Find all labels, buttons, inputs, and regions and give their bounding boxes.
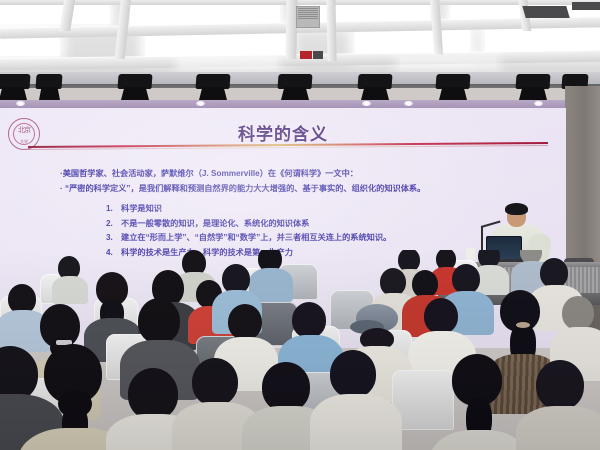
numbered-item-index: 1. <box>106 202 121 217</box>
speaker-hair <box>505 203 528 215</box>
ceiling-beam <box>326 0 336 61</box>
lecture-hall-screenshot: 北京 大学 科学的含义 ·美国哲学家、社会活动家，萨默维尔（J. Sommerv… <box>0 0 600 450</box>
ceiling <box>0 0 600 76</box>
audience <box>0 250 600 450</box>
ceiling-light-panel <box>180 58 276 68</box>
numbered-item: 3.建立在“形而上学”、“自然学”和“数学”上，并三者相互关连上的系统知识。 <box>106 231 530 246</box>
numbered-item-text: 科学是知识 <box>121 204 162 213</box>
numbered-item: 1.科学是知识 <box>106 202 530 217</box>
ceiling-light-panel <box>400 58 496 68</box>
downlight <box>404 101 413 106</box>
numbered-item-index: 3. <box>106 231 121 246</box>
ceiling-beam <box>0 0 600 5</box>
ceiling-marker <box>300 51 312 59</box>
slide-title: 科学的含义 <box>0 120 566 145</box>
ceiling-marker <box>313 51 323 59</box>
downlight <box>16 101 25 106</box>
slide-body: ·美国哲学家、社会活动家，萨默维尔（J. Sommerville）在《何谓科学》… <box>60 166 530 260</box>
downlight <box>362 101 371 106</box>
ceiling-fixture <box>572 2 600 10</box>
microphone-stand <box>481 226 483 252</box>
ceiling-fixture <box>522 6 569 18</box>
downlight <box>534 101 543 106</box>
numbered-item-index: 2. <box>106 217 121 232</box>
numbered-item: 2.不是一般零散的知识，是理论化、系统化的知识体系 <box>106 217 530 232</box>
slide-bullet: ·美国哲学家、社会活动家，萨默维尔（J. Sommerville）在《何谓科学》… <box>60 166 530 181</box>
audience-depth-shading <box>0 250 600 450</box>
numbered-item-text: 不是一般零散的知识，是理论化、系统化的知识体系 <box>121 219 309 228</box>
numbered-item-text: 建立在“形而上学”、“自然学”和“数学”上，并三者相互关连上的系统知识。 <box>121 233 391 242</box>
slide-bullet: · “严密的科学定义”，是我们解释和预测自然界的能力大大增强的、基于事实的、组织… <box>60 181 530 196</box>
downlight <box>196 101 205 106</box>
ceiling-vent <box>296 6 320 28</box>
